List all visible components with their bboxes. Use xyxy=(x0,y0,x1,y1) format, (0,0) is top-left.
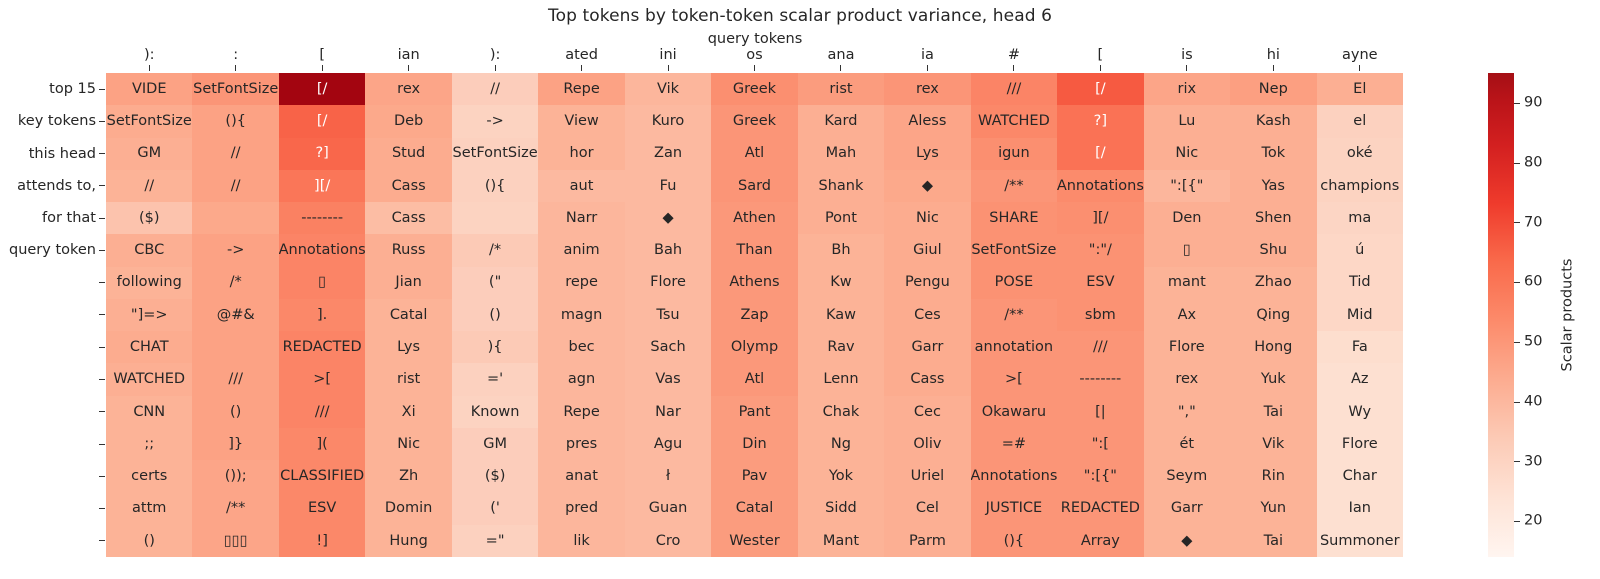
heatmap-cell: ma xyxy=(1317,202,1403,234)
heatmap-cell: ú xyxy=(1317,234,1403,266)
y-tick-mark-9 xyxy=(99,363,106,395)
heatmap-cell: Cro xyxy=(625,525,711,557)
heatmap-cell: /// xyxy=(971,73,1057,105)
colorbar-tick-5: 70 xyxy=(1514,222,1542,223)
y-tick-label-7 xyxy=(0,299,98,331)
heatmap-cell: Shen xyxy=(1230,202,1316,234)
x-tick-mark-0 xyxy=(106,65,192,73)
heatmap-cell: ł xyxy=(625,460,711,492)
heatmap-cell: Okawaru xyxy=(971,396,1057,428)
heatmap-cell: hor xyxy=(538,138,624,170)
heatmap-cell xyxy=(192,331,278,363)
heatmap-cell: Kw xyxy=(798,267,884,299)
heatmap-cell: () xyxy=(452,299,538,331)
heatmap-cell: CNN xyxy=(106,396,192,428)
heatmap-cell: Kash xyxy=(1230,105,1316,137)
heatmap-cell: ◆ xyxy=(625,202,711,234)
heatmap-cell: () xyxy=(106,525,192,557)
heatmap-cell: Atl xyxy=(711,363,797,395)
heatmap-cell: Fu xyxy=(625,170,711,202)
x-tick-mark-13 xyxy=(1230,65,1316,73)
heatmap-cell: Cec xyxy=(884,396,970,428)
heatmap-cell: Array xyxy=(1057,525,1143,557)
heatmap-cell: Guan xyxy=(625,492,711,524)
heatmap-cell: aut xyxy=(538,170,624,202)
x-tick-mark-4 xyxy=(452,65,538,73)
heatmap-cell: Hong xyxy=(1230,331,1316,363)
heatmap-cell: Chak xyxy=(798,396,884,428)
heatmap-cell: [/ xyxy=(279,105,365,137)
heatmap-cell: sbm xyxy=(1057,299,1143,331)
y-axis-tick-marks xyxy=(99,73,106,557)
heatmap-cell: /* xyxy=(192,267,278,299)
y-tick-label-1: key tokens xyxy=(0,105,98,137)
y-tick-mark-3 xyxy=(99,170,106,202)
heatmap-cell: GM xyxy=(106,138,192,170)
heatmap-cell: ($) xyxy=(106,202,192,234)
heatmap-cell: ]} xyxy=(192,428,278,460)
x-tick-label-9: ia xyxy=(884,45,970,65)
heatmap-cell: Zh xyxy=(365,460,451,492)
heatmap-cell: REDACTED xyxy=(279,331,365,363)
heatmap-cell: ":[{" xyxy=(1057,460,1143,492)
colorbar-title-label: Scalar products xyxy=(1559,259,1575,372)
heatmap-cell: ][/ xyxy=(1057,202,1143,234)
heatmap-cell: Athens xyxy=(711,267,797,299)
y-tick-label-12 xyxy=(0,460,98,492)
heatmap-cell: rex xyxy=(365,73,451,105)
colorbar-tick-mark xyxy=(1514,402,1520,403)
colorbar-title: Scalar products xyxy=(1556,73,1578,557)
heatmap-cell: // xyxy=(106,170,192,202)
heatmap-cell: Nic xyxy=(884,202,970,234)
heatmap-cell: @#& xyxy=(192,299,278,331)
heatmap-cell: =# xyxy=(971,428,1057,460)
heatmap-cell: Vik xyxy=(625,73,711,105)
heatmap-cell: magn xyxy=(538,299,624,331)
colorbar-tick-value: 50 xyxy=(1524,335,1542,350)
heatmap-cell: [/ xyxy=(279,73,365,105)
heatmap-cell: POSE xyxy=(971,267,1057,299)
heatmap-cell: "," xyxy=(1144,396,1230,428)
heatmap-cell: Pont xyxy=(798,202,884,234)
y-tick-label-3: attends to, xyxy=(0,170,98,202)
heatmap-cell: Tid xyxy=(1317,267,1403,299)
x-tick-label-11: [ xyxy=(1057,45,1143,65)
heatmap-cell: VIDE xyxy=(106,73,192,105)
heatmap-cell: -> xyxy=(452,105,538,137)
heatmap-cell: Olymp xyxy=(711,331,797,363)
heatmap-cell: Atl xyxy=(711,138,797,170)
heatmap-cell: Hung xyxy=(365,525,451,557)
x-tick-label-12: is xyxy=(1144,45,1230,65)
page-title: Top tokens by token-token scalar product… xyxy=(0,6,1600,26)
x-tick-label-6: ini xyxy=(625,45,711,65)
heatmap-cell: Athen xyxy=(711,202,797,234)
y-tick-label-0: top 15 xyxy=(0,73,98,105)
heatmap-cell: Wy xyxy=(1317,396,1403,428)
heatmap-cell: Kard xyxy=(798,105,884,137)
x-tick-label-10: # xyxy=(971,45,1057,65)
y-tick-label-2: this head xyxy=(0,138,98,170)
heatmap-cell: pres xyxy=(538,428,624,460)
heatmap-cell: ){ xyxy=(452,331,538,363)
heatmap-cell: WATCHED xyxy=(106,363,192,395)
heatmap-cell: // xyxy=(192,138,278,170)
heatmap-cell: Mant xyxy=(798,525,884,557)
heatmap-cell: [/ xyxy=(1057,73,1143,105)
heatmap-cell: /** xyxy=(971,170,1057,202)
heatmap-cell: Din xyxy=(711,428,797,460)
heatmap-cell: Wester xyxy=(711,525,797,557)
heatmap-cell: ][/ xyxy=(279,170,365,202)
heatmap-cell: Sard xyxy=(711,170,797,202)
heatmap-cell: Greek xyxy=(711,73,797,105)
colorbar-tick-value: 40 xyxy=(1524,394,1542,409)
y-tick-mark-4 xyxy=(99,202,106,234)
heatmap-cell: Yok xyxy=(798,460,884,492)
heatmap-cell: Catal xyxy=(365,299,451,331)
x-tick-mark-5 xyxy=(538,65,624,73)
colorbar-tick-value: 90 xyxy=(1524,96,1542,111)
heatmap-cell: =" xyxy=(452,525,538,557)
x-tick-mark-6 xyxy=(625,65,711,73)
heatmap-cell: rist xyxy=(798,73,884,105)
x-axis-tick-labels: )::[ian):atediniosanaia#[ishiayne xyxy=(106,45,1403,65)
heatmap-cell: anim xyxy=(538,234,624,266)
heatmap-cell: /// xyxy=(192,363,278,395)
heatmap-cell: repe xyxy=(538,267,624,299)
heatmap-plot-area: VIDESetFontSize[/rex//RepeVikGreekristre… xyxy=(106,73,1403,557)
colorbar-tick-value: 20 xyxy=(1524,514,1542,529)
heatmap-cell: SetFontSize xyxy=(192,73,278,105)
colorbar-tick-4: 60 xyxy=(1514,282,1542,283)
heatmap-cell: Garr xyxy=(1144,492,1230,524)
heatmap-cell: GM xyxy=(452,428,538,460)
heatmap-cell: Flore xyxy=(1144,331,1230,363)
heatmap-cell: CHAT xyxy=(106,331,192,363)
heatmap-cell: Yun xyxy=(1230,492,1316,524)
heatmap-cell: ▯ xyxy=(1144,234,1230,266)
colorbar-tick-mark xyxy=(1514,222,1520,223)
heatmap-cell: oké xyxy=(1317,138,1403,170)
heatmap-cell: Shank xyxy=(798,170,884,202)
heatmap-cell: igun xyxy=(971,138,1057,170)
heatmap-cell: Nic xyxy=(365,428,451,460)
heatmap-cell: Catal xyxy=(711,492,797,524)
heatmap-cell: following xyxy=(106,267,192,299)
x-tick-mark-2 xyxy=(279,65,365,73)
y-tick-label-5: query token xyxy=(0,234,98,266)
colorbar-tick-2: 40 xyxy=(1514,402,1542,403)
heatmap-cell: champions xyxy=(1317,170,1403,202)
heatmap-cell: ESV xyxy=(279,492,365,524)
heatmap-cell: SetFontSize xyxy=(971,234,1057,266)
heatmap-cell: Jian xyxy=(365,267,451,299)
colorbar-tick-mark xyxy=(1514,282,1520,283)
heatmap-cell: JUSTICE xyxy=(971,492,1057,524)
y-tick-mark-1 xyxy=(99,105,106,137)
x-tick-mark-12 xyxy=(1144,65,1230,73)
heatmap-cell: Pav xyxy=(711,460,797,492)
heatmap-cell: ▯▯▯ xyxy=(192,525,278,557)
heatmap-cell: Aless xyxy=(884,105,970,137)
x-tick-label-4: ): xyxy=(452,45,538,65)
y-axis-tick-labels: top 15key tokensthis headattends to,for … xyxy=(0,73,98,557)
heatmap-cell: SetFontSize xyxy=(452,138,538,170)
heatmap-cell xyxy=(452,202,538,234)
y-tick-label-11 xyxy=(0,428,98,460)
x-tick-label-5: ated xyxy=(538,45,624,65)
heatmap-cell: ?] xyxy=(279,138,365,170)
heatmap-cell: (){ xyxy=(192,105,278,137)
heatmap-cell: Ax xyxy=(1144,299,1230,331)
heatmap-cell: // xyxy=(452,73,538,105)
heatmap-cell: rix xyxy=(1144,73,1230,105)
x-tick-mark-8 xyxy=(798,65,884,73)
heatmap-cell: Agu xyxy=(625,428,711,460)
heatmap-cell: Parm xyxy=(884,525,970,557)
heatmap-cell: Repe xyxy=(538,396,624,428)
x-axis-tick-marks xyxy=(106,65,1403,73)
heatmap-cell: Sidd xyxy=(798,492,884,524)
heatmap-cell: Tai xyxy=(1230,525,1316,557)
colorbar-tick-3: 50 xyxy=(1514,342,1542,343)
heatmap-cell: certs xyxy=(106,460,192,492)
y-tick-label-13 xyxy=(0,492,98,524)
heatmap-cell: Mid xyxy=(1317,299,1403,331)
y-tick-mark-12 xyxy=(99,460,106,492)
heatmap-cell: (){ xyxy=(971,525,1057,557)
heatmap-cell: Russ xyxy=(365,234,451,266)
heatmap-cell: SHARE xyxy=(971,202,1057,234)
heatmap-cell: Nic xyxy=(1144,138,1230,170)
colorbar-tick-1: 30 xyxy=(1514,461,1542,462)
heatmap-cell: Giul xyxy=(884,234,970,266)
colorbar-tick-mark xyxy=(1514,521,1520,522)
x-tick-label-8: ana xyxy=(798,45,884,65)
heatmap-cell: Lys xyxy=(884,138,970,170)
heatmap-cell: Cass xyxy=(884,363,970,395)
heatmap-cell: el xyxy=(1317,105,1403,137)
y-tick-mark-13 xyxy=(99,492,106,524)
heatmap-cell: Ng xyxy=(798,428,884,460)
heatmap-cell: SetFontSize xyxy=(106,105,192,137)
heatmap-cell: Zhao xyxy=(1230,267,1316,299)
heatmap-cell: Flore xyxy=(1317,428,1403,460)
heatmap-cell: Annotations xyxy=(279,234,365,266)
heatmap-cell: /* xyxy=(452,234,538,266)
heatmap-cell: ◆ xyxy=(1144,525,1230,557)
heatmap-cell: agn xyxy=(538,363,624,395)
y-tick-label-6 xyxy=(0,267,98,299)
heatmap-cell: (){ xyxy=(452,170,538,202)
heatmap-cell: Nep xyxy=(1230,73,1316,105)
heatmap-cell: Az xyxy=(1317,363,1403,395)
colorbar: 2030405060708090 xyxy=(1488,73,1514,557)
heatmap-cell: Yas xyxy=(1230,170,1316,202)
heatmap-cell: lik xyxy=(538,525,624,557)
heatmap-cell: Fa xyxy=(1317,331,1403,363)
colorbar-tick-6: 80 xyxy=(1514,163,1542,164)
heatmap-cell: Rav xyxy=(798,331,884,363)
heatmap-cell: bec xyxy=(538,331,624,363)
heatmap-cell: Rin xyxy=(1230,460,1316,492)
y-tick-label-14 xyxy=(0,525,98,557)
heatmap-cell: Cel xyxy=(884,492,970,524)
heatmap-cell: Repe xyxy=(538,73,624,105)
heatmap-cell: Sach xyxy=(625,331,711,363)
heatmap-cell: Char xyxy=(1317,460,1403,492)
heatmap-cell: ":"/ xyxy=(1057,234,1143,266)
heatmap-cell: -> xyxy=(192,234,278,266)
heatmap-cell: Ces xyxy=(884,299,970,331)
heatmap-cell: REDACTED xyxy=(1057,492,1143,524)
heatmap-cell: ESV xyxy=(1057,267,1143,299)
heatmap-cell: Zan xyxy=(625,138,711,170)
colorbar-tick-7: 90 xyxy=(1514,103,1542,104)
heatmap-grid: VIDESetFontSize[/rex//RepeVikGreekristre… xyxy=(106,73,1403,557)
heatmap-cell: !] xyxy=(279,525,365,557)
x-tick-label-3: ian xyxy=(365,45,451,65)
heatmap-cell: Lys xyxy=(365,331,451,363)
x-tick-label-13: hi xyxy=(1230,45,1316,65)
y-tick-mark-2 xyxy=(99,138,106,170)
heatmap-cell: Domin xyxy=(365,492,451,524)
heatmap-cell: View xyxy=(538,105,624,137)
heatmap-cell: -------- xyxy=(1057,363,1143,395)
heatmap-cell: Tok xyxy=(1230,138,1316,170)
x-tick-label-7: os xyxy=(711,45,797,65)
y-tick-mark-8 xyxy=(99,331,106,363)
colorbar-tick-value: 80 xyxy=(1524,155,1542,170)
heatmap-cell: Vik xyxy=(1230,428,1316,460)
colorbar-tick-mark xyxy=(1514,163,1520,164)
x-tick-label-0: ): xyxy=(106,45,192,65)
heatmap-cell: El xyxy=(1317,73,1403,105)
heatmap-cell: () xyxy=(192,396,278,428)
heatmap-cell: Lu xyxy=(1144,105,1230,137)
heatmap-cell: CLASSIFIED xyxy=(279,460,365,492)
heatmap-cell: [| xyxy=(1057,396,1143,428)
heatmap-cell: Ian xyxy=(1317,492,1403,524)
heatmap-cell: ":[ xyxy=(1057,428,1143,460)
heatmap-cell: ()); xyxy=(192,460,278,492)
x-tick-label-14: ayne xyxy=(1317,45,1403,65)
x-tick-mark-11 xyxy=(1057,65,1143,73)
heatmap-cell: Garr xyxy=(884,331,970,363)
heatmap-cell: ]( xyxy=(279,428,365,460)
heatmap-cell: Known xyxy=(452,396,538,428)
heatmap-cell: rist xyxy=(365,363,451,395)
y-tick-label-9 xyxy=(0,363,98,395)
heatmap-cell: Seym xyxy=(1144,460,1230,492)
heatmap-cell: Annotations xyxy=(971,460,1057,492)
y-tick-mark-0 xyxy=(99,73,106,105)
heatmap-cell: Summoner xyxy=(1317,525,1403,557)
heatmap-cell: Yuk xyxy=(1230,363,1316,395)
y-tick-label-8 xyxy=(0,331,98,363)
heatmap-cell: Pengu xyxy=(884,267,970,299)
heatmap-cell: ":[{" xyxy=(1144,170,1230,202)
colorbar-tick-mark xyxy=(1514,103,1520,104)
heatmap-cell: ;; xyxy=(106,428,192,460)
heatmap-cell: Deb xyxy=(365,105,451,137)
heatmap-cell: ]. xyxy=(279,299,365,331)
heatmap-cell: Oliv xyxy=(884,428,970,460)
colorbar-tick-0: 20 xyxy=(1514,521,1542,522)
colorbar-gradient xyxy=(1488,73,1514,557)
heatmap-cell: Narr xyxy=(538,202,624,234)
x-tick-mark-10 xyxy=(971,65,1057,73)
y-tick-mark-7 xyxy=(99,299,106,331)
heatmap-cell: Bah xyxy=(625,234,711,266)
heatmap-cell: Xi xyxy=(365,396,451,428)
y-tick-mark-14 xyxy=(99,525,106,557)
heatmap-cell: pred xyxy=(538,492,624,524)
y-tick-mark-6 xyxy=(99,267,106,299)
x-tick-label-1: : xyxy=(192,45,278,65)
heatmap-cell: Kaw xyxy=(798,299,884,331)
x-tick-mark-7 xyxy=(711,65,797,73)
x-tick-mark-3 xyxy=(365,65,451,73)
heatmap-cell: ◆ xyxy=(884,170,970,202)
y-tick-mark-10 xyxy=(99,396,106,428)
heatmap-cell: rex xyxy=(1144,363,1230,395)
colorbar-tick-value: 30 xyxy=(1524,454,1542,469)
heatmap-cell: >[ xyxy=(279,363,365,395)
heatmap-cell: -------- xyxy=(279,202,365,234)
heatmap-cell: /// xyxy=(1057,331,1143,363)
heatmap-cell: [/ xyxy=(1057,138,1143,170)
heatmap-cell: Uriel xyxy=(884,460,970,492)
heatmap-cell: // xyxy=(192,170,278,202)
x-tick-mark-9 xyxy=(884,65,970,73)
heatmap-cell: ?] xyxy=(1057,105,1143,137)
heatmap-cell: Annotations xyxy=(1057,170,1143,202)
heatmap-cell: >[ xyxy=(971,363,1057,395)
y-tick-mark-11 xyxy=(99,428,106,460)
heatmap-cell: /// xyxy=(279,396,365,428)
heatmap-cell: "]=> xyxy=(106,299,192,331)
heatmap-cell: (' xyxy=(452,492,538,524)
heatmap-cell: Greek xyxy=(711,105,797,137)
heatmap-cell: anat xyxy=(538,460,624,492)
heatmap-cell: Cass xyxy=(365,170,451,202)
heatmap-cell: /** xyxy=(971,299,1057,331)
heatmap-cell: ét xyxy=(1144,428,1230,460)
heatmap-cell: Shu xyxy=(1230,234,1316,266)
heatmap-cell: =' xyxy=(452,363,538,395)
heatmap-cell: Zap xyxy=(711,299,797,331)
colorbar-tick-mark xyxy=(1514,342,1520,343)
heatmap-cell: Stud xyxy=(365,138,451,170)
heatmap-cell: /** xyxy=(192,492,278,524)
heatmap-cell: Nar xyxy=(625,396,711,428)
heatmap-cell: Than xyxy=(711,234,797,266)
colorbar-tick-value: 60 xyxy=(1524,275,1542,290)
heatmap-cell: WATCHED xyxy=(971,105,1057,137)
y-tick-label-4: for that xyxy=(0,202,98,234)
heatmap-cell: Pant xyxy=(711,396,797,428)
heatmap-cell: attm xyxy=(106,492,192,524)
heatmap-cell: Vas xyxy=(625,363,711,395)
heatmap-cell: annotation xyxy=(971,331,1057,363)
heatmap-cell: Lenn xyxy=(798,363,884,395)
heatmap-cell: ▯ xyxy=(279,267,365,299)
heatmap-cell: Kuro xyxy=(625,105,711,137)
heatmap-cell: rex xyxy=(884,73,970,105)
